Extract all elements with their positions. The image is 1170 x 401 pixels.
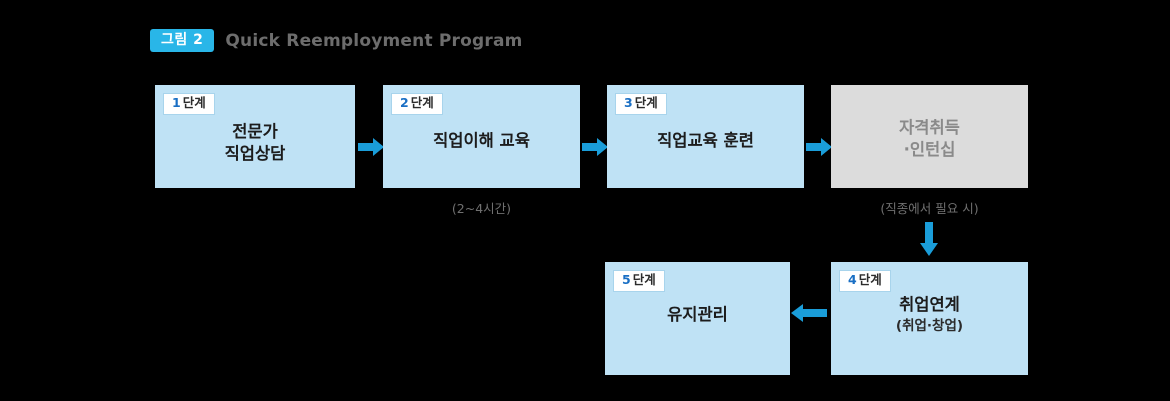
caption-step-2: (2~4시간) xyxy=(383,198,580,217)
step-tag-unit: 단계 xyxy=(183,95,206,110)
step-tag-unit: 단계 xyxy=(633,272,656,287)
step-tag-unit: 단계 xyxy=(859,272,882,287)
diagram-canvas: 그림 2 Quick Reemployment Program 1단계 전문가 … xyxy=(0,0,1170,401)
step-tag-number: 1 xyxy=(172,95,181,110)
node-title: 직업교육 훈련 xyxy=(607,130,804,152)
node-body: 취업연계 (취업·창업) xyxy=(831,294,1028,336)
flow-node-optional-certification[interactable]: 자격취득 ·인턴십 xyxy=(831,85,1028,188)
node-title: 직업이해 교육 xyxy=(383,130,580,152)
flow-node-step-2[interactable]: 2단계 직업이해 교육 xyxy=(383,85,580,188)
node-title: 전문가 직업상담 xyxy=(155,121,355,166)
node-subtitle: (취업·창업) xyxy=(831,318,1028,336)
step-tag-1: 1단계 xyxy=(163,93,215,115)
step-tag-2: 2단계 xyxy=(391,93,443,115)
step-tag-number: 3 xyxy=(624,95,633,110)
node-body: 직업이해 교육 xyxy=(383,130,580,152)
arrow-3-to-optional-icon xyxy=(806,136,832,158)
figure-heading: 그림 2 Quick Reemployment Program xyxy=(150,27,523,54)
step-tag-number: 5 xyxy=(622,272,631,287)
step-tag-5: 5단계 xyxy=(613,270,665,292)
node-body: 전문가 직업상담 xyxy=(155,121,355,166)
step-tag-unit: 단계 xyxy=(635,95,658,110)
arrow-4-to-5-icon xyxy=(791,302,827,324)
step-tag-4: 4단계 xyxy=(839,270,891,292)
figure-badge: 그림 2 xyxy=(150,29,214,52)
page-title: Quick Reemployment Program xyxy=(225,31,522,51)
caption-optional-certification: (직종에서 필요 시) xyxy=(831,198,1028,217)
flow-node-step-1[interactable]: 1단계 전문가 직업상담 xyxy=(155,85,355,188)
node-body: 직업교육 훈련 xyxy=(607,130,804,152)
arrow-1-to-2-icon xyxy=(358,136,384,158)
node-body: 자격취득 ·인턴십 xyxy=(831,117,1028,162)
step-tag-number: 4 xyxy=(848,272,857,287)
arrow-optional-to-4-icon xyxy=(918,222,940,256)
step-tag-number: 2 xyxy=(400,95,409,110)
flow-node-step-4[interactable]: 4단계 취업연계 (취업·창업) xyxy=(831,262,1028,375)
step-tag-3: 3단계 xyxy=(615,93,667,115)
node-title: 자격취득 ·인턴십 xyxy=(831,117,1028,162)
flow-node-step-3[interactable]: 3단계 직업교육 훈련 xyxy=(607,85,804,188)
node-body: 유지관리 xyxy=(605,304,790,326)
flow-node-step-5[interactable]: 5단계 유지관리 xyxy=(605,262,790,375)
node-title: 취업연계 xyxy=(831,294,1028,316)
step-tag-unit: 단계 xyxy=(411,95,434,110)
node-title: 유지관리 xyxy=(605,304,790,326)
arrow-2-to-3-icon xyxy=(582,136,608,158)
